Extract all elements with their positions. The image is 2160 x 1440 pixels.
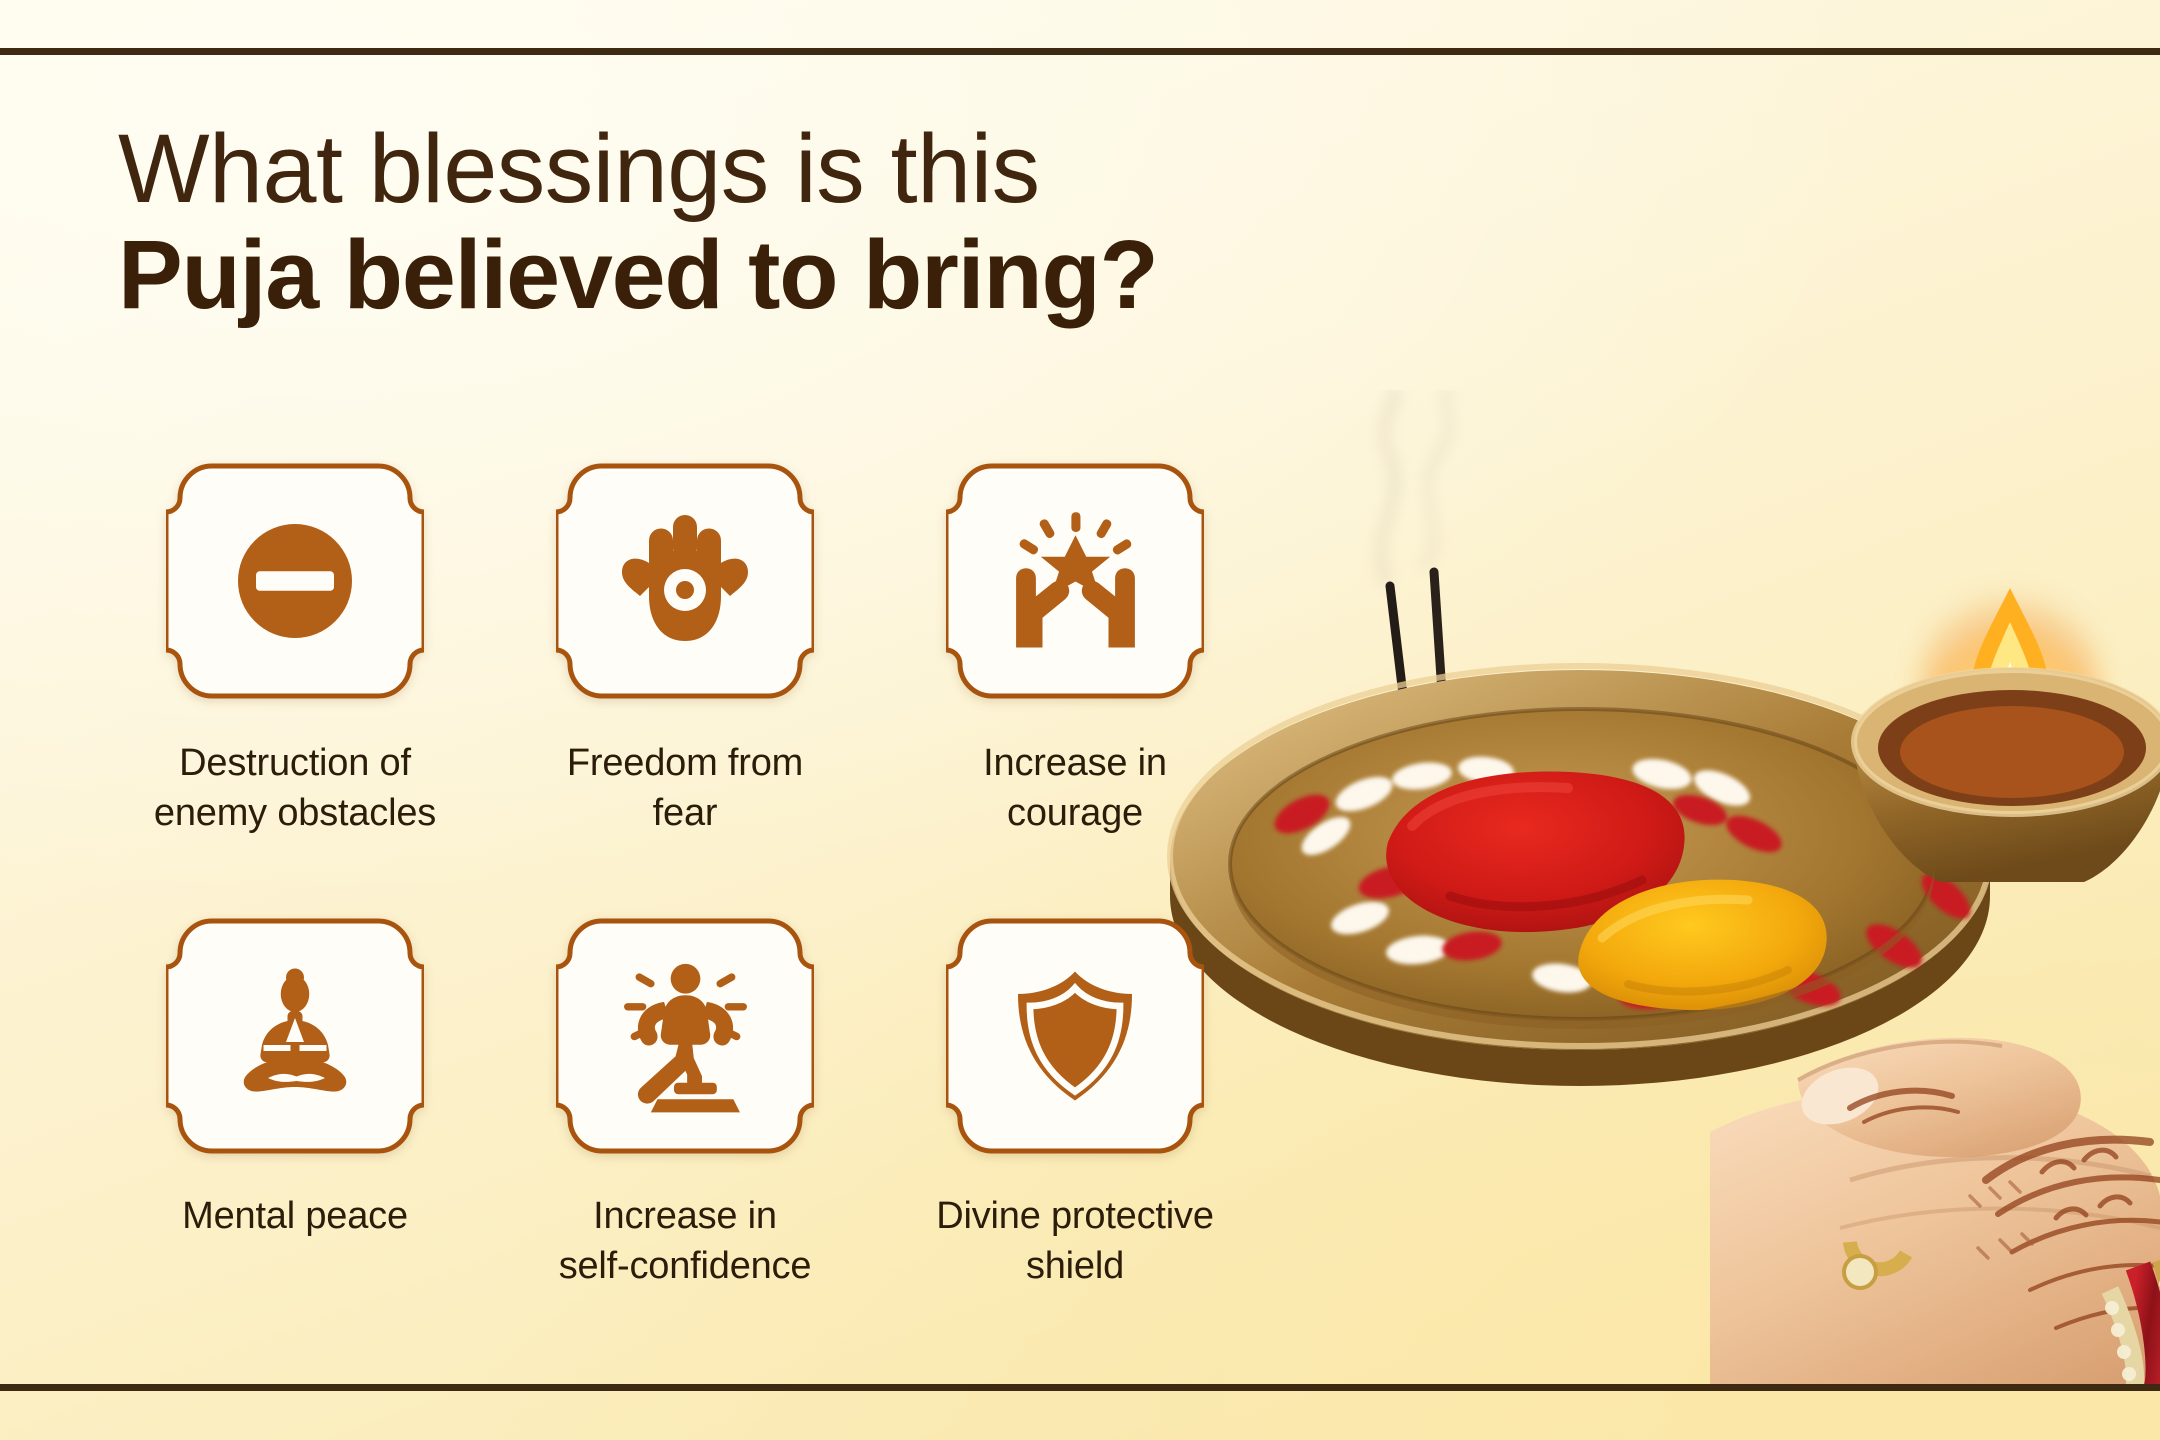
page-title: What blessings is this Puja believed to … [118, 118, 1158, 329]
blessing-icon-tile [946, 452, 1204, 710]
blessing-item: Freedom fromfear [490, 452, 880, 907]
blessing-icon-tile [556, 907, 814, 1165]
no-entry-block-icon [220, 506, 370, 656]
top-divider-rule [0, 48, 2160, 55]
blessing-label: Increase incourage [983, 738, 1167, 838]
bottom-divider-rule [0, 1384, 2160, 1391]
infographic-canvas: What blessings is this Puja believed to … [0, 0, 2160, 1440]
blessing-label: Mental peace [182, 1191, 408, 1241]
hamsa-hand-icon [610, 506, 760, 656]
shield-icon [1000, 961, 1150, 1111]
meditating-person-icon [220, 961, 370, 1111]
blessing-icon-tile [556, 452, 814, 710]
brass-diya-with-flame [1854, 570, 2160, 882]
blessing-icon-tile [166, 452, 424, 710]
blessings-grid: Destruction ofenemy obstacles [100, 452, 1200, 1362]
incense-smoke [1381, 390, 1450, 580]
blessing-icon-tile [946, 907, 1204, 1165]
blessing-item: Increase incourage [880, 452, 1270, 907]
blessing-item: Mental peace [100, 907, 490, 1362]
blessing-label: Increase inself-confidence [559, 1191, 812, 1291]
title-line-2: Puja believed to bring? [118, 221, 1158, 330]
henna-decorated-hand [1710, 1038, 2160, 1390]
hands-holding-star-icon [993, 499, 1158, 664]
blessing-label: Freedom fromfear [567, 738, 803, 838]
blessing-item: Divine protectiveshield [880, 907, 1270, 1362]
blessing-icon-tile [166, 907, 424, 1165]
blessing-label: Divine protectiveshield [936, 1191, 1214, 1291]
blessing-label: Destruction ofenemy obstacles [154, 738, 436, 838]
blessing-item: Increase inself-confidence [490, 907, 880, 1362]
title-line-1: What blessings is this [118, 118, 1158, 221]
hand-holding-puja-thali-photo [1150, 390, 2160, 1390]
blessing-item: Destruction ofenemy obstacles [100, 452, 490, 907]
confident-person-icon [603, 954, 768, 1119]
